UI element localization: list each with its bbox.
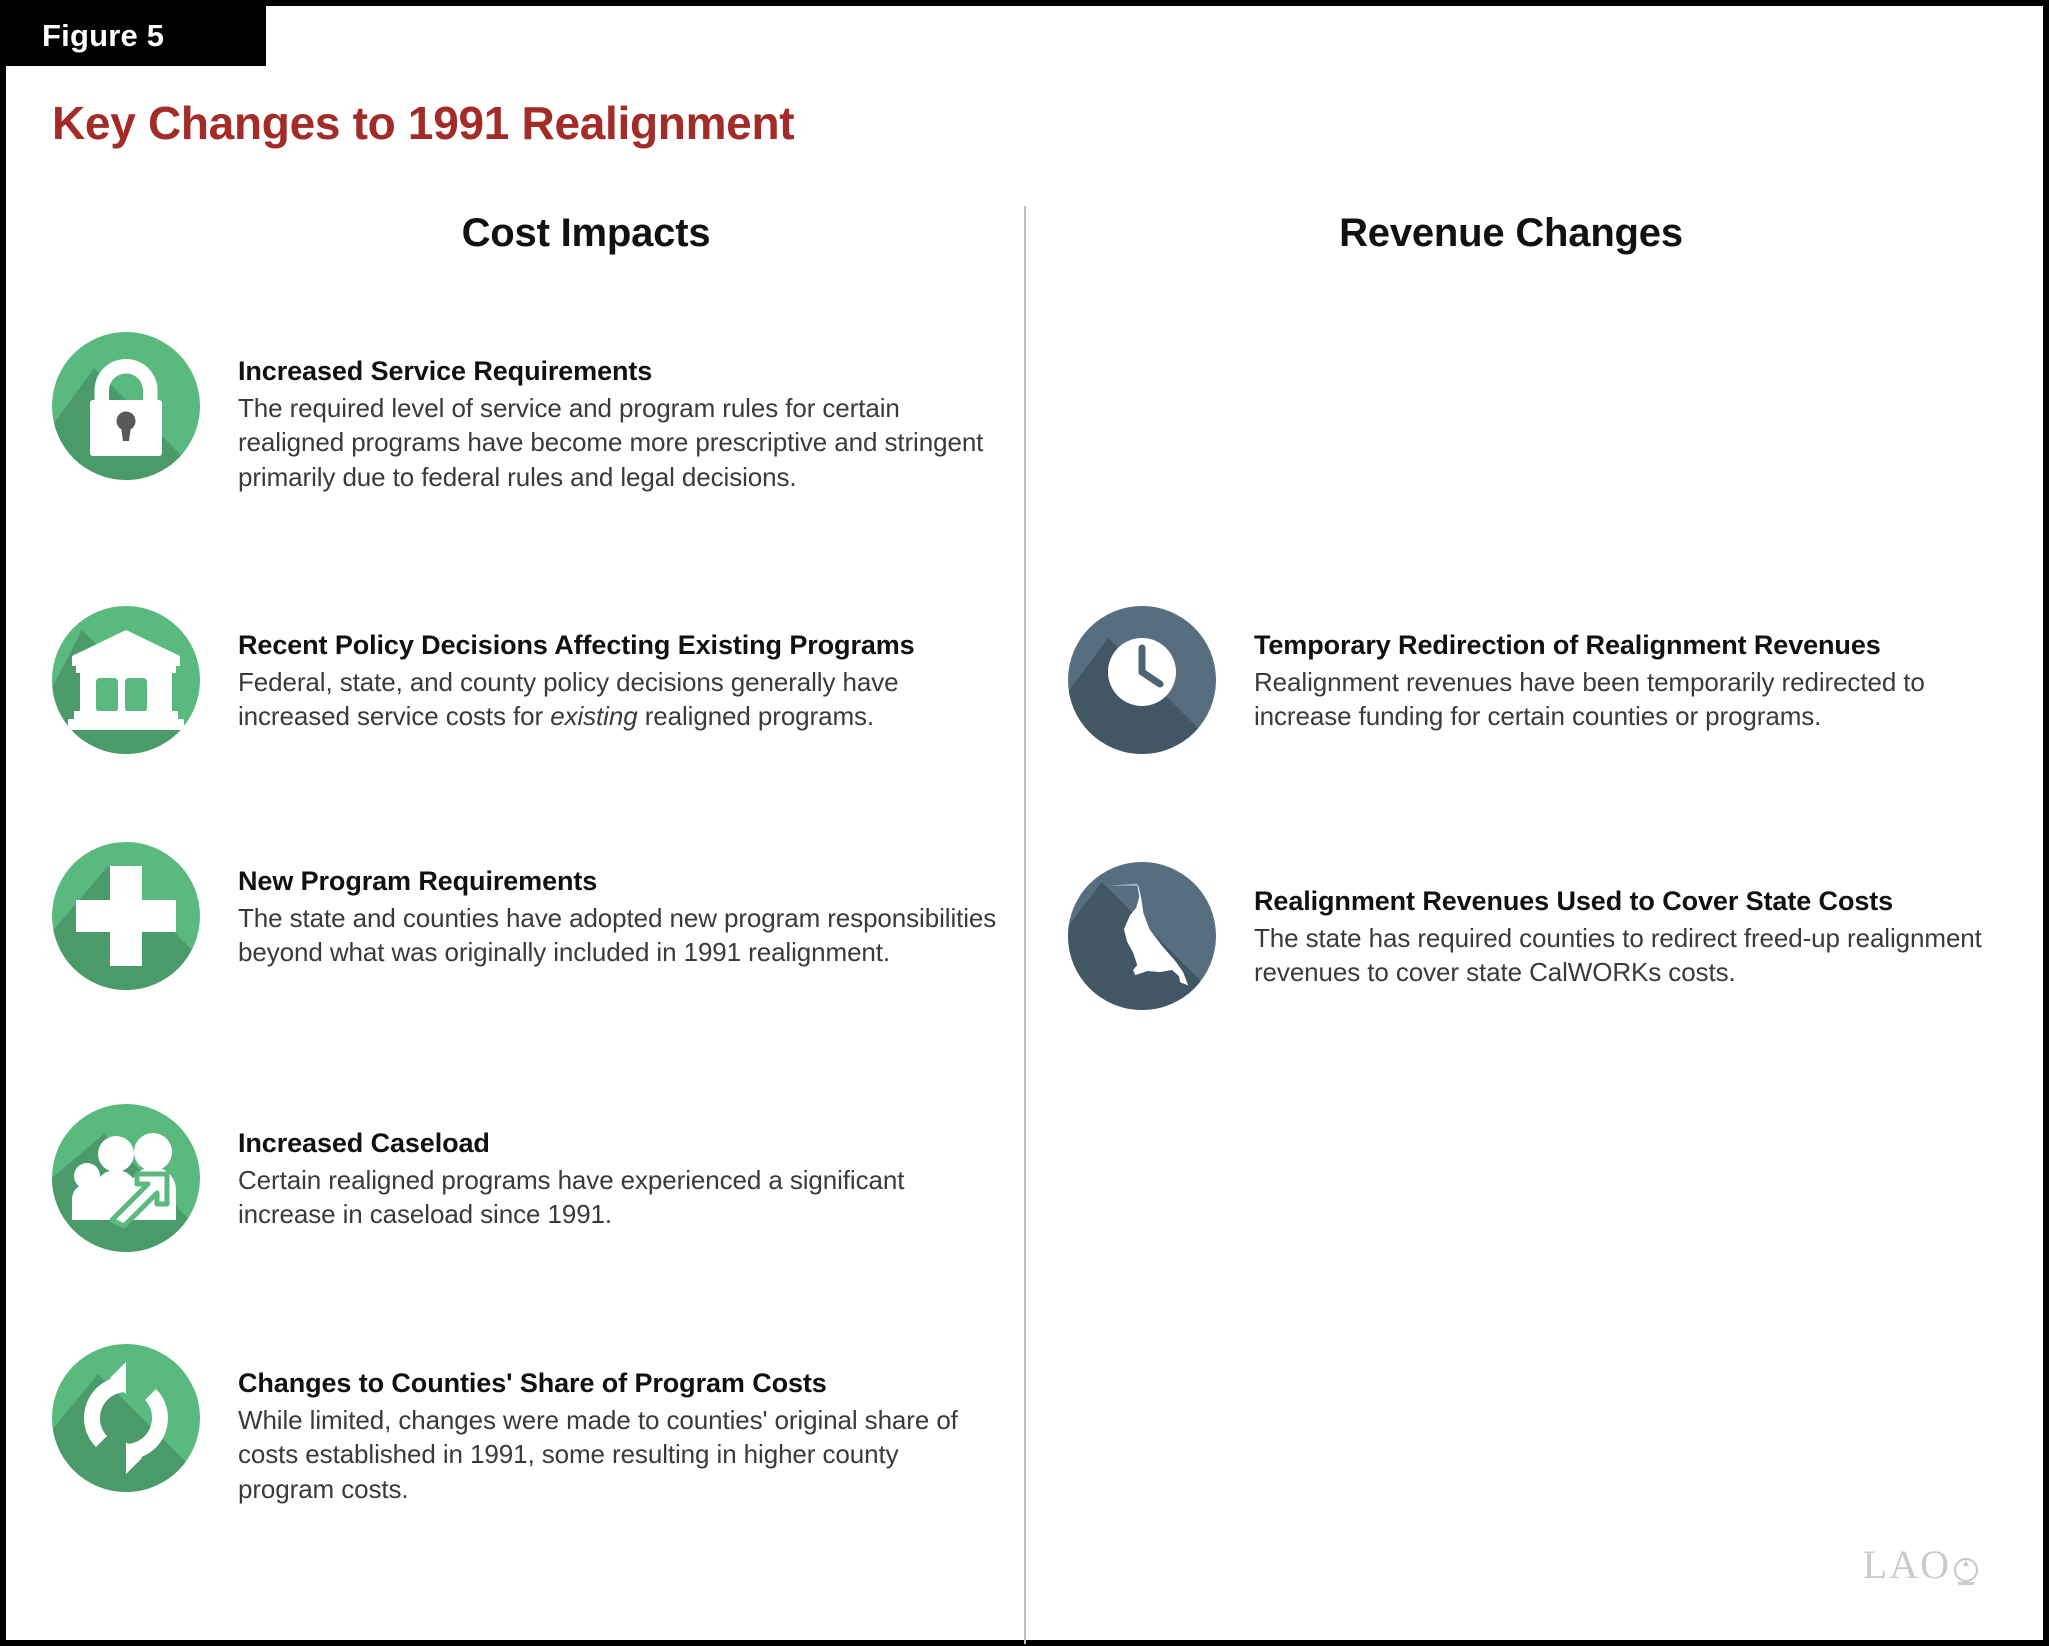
list-item-text: Recent Policy Decisions Affecting Existi…	[238, 606, 998, 734]
recycle-arrows-icon-glyph	[52, 1344, 200, 1492]
plus-cross-icon	[52, 842, 200, 990]
column-divider	[1024, 206, 1026, 1644]
bank-columns-icon-glyph	[52, 606, 200, 754]
people-growth-icon-circle	[52, 1104, 200, 1252]
bank-columns-icon	[52, 606, 200, 754]
list-item: Recent Policy Decisions Affecting Existi…	[52, 606, 998, 754]
recycle-arrows-icon	[52, 1344, 200, 1492]
figure-number-tab: Figure 5	[6, 6, 266, 66]
lao-logo-mark	[1953, 1556, 1979, 1586]
list-item: Changes to Counties' Share of Program Co…	[52, 1344, 998, 1507]
clock-icon	[1068, 606, 1216, 754]
list-item: Realignment Revenues Used to Cover State…	[1068, 862, 2024, 1010]
list-item-text: Increased Service Requirements The requi…	[238, 332, 998, 495]
figure-root: Figure 5 Key Changes to 1991 Realignment…	[0, 0, 2049, 1646]
plus-cross-icon-glyph	[52, 842, 200, 990]
list-item: Temporary Redirection of Realignment Rev…	[1068, 606, 2024, 754]
lao-logo-text: LAO	[1863, 1541, 1951, 1588]
list-item-text: Temporary Redirection of Realignment Rev…	[1254, 606, 2024, 734]
people-growth-icon	[52, 1104, 200, 1252]
clock-icon-glyph	[1068, 606, 1216, 754]
lock-icon	[52, 332, 200, 480]
list-item-title: Recent Policy Decisions Affecting Existi…	[238, 628, 998, 663]
lock-icon-circle	[52, 332, 200, 480]
list-item-text: Realignment Revenues Used to Cover State…	[1254, 862, 2024, 990]
list-item-title: Realignment Revenues Used to Cover State…	[1254, 884, 2024, 919]
bank-columns-icon-circle	[52, 606, 200, 754]
lock-icon-glyph	[52, 332, 200, 480]
list-item-title: Increased Caseload	[238, 1126, 998, 1161]
list-item-description: Certain realigned programs have experien…	[238, 1163, 998, 1233]
list-item-description: The required level of service and progra…	[238, 391, 998, 495]
california-map-icon-circle	[1068, 862, 1216, 1010]
list-item-title: Changes to Counties' Share of Program Co…	[238, 1366, 998, 1401]
list-item-description: The state and counties have adopted new …	[238, 901, 998, 971]
clock-icon-circle	[1068, 606, 1216, 754]
plus-cross-icon-circle	[52, 842, 200, 990]
california-map-icon-glyph	[1068, 862, 1216, 1010]
list-item-text: New Program Requirements The state and c…	[238, 842, 998, 970]
list-item-title: New Program Requirements	[238, 864, 998, 899]
california-map-icon	[1068, 862, 1216, 1010]
list-item-description: While limited, changes were made to coun…	[238, 1403, 998, 1507]
list-item-description: Realignment revenues have been temporari…	[1254, 665, 2024, 735]
list-item-text: Increased Caseload Certain realigned pro…	[238, 1104, 998, 1232]
list-item-description: Federal, state, and county policy decisi…	[238, 665, 998, 735]
list-item-title: Temporary Redirection of Realignment Rev…	[1254, 628, 2024, 663]
people-growth-icon-glyph	[52, 1104, 200, 1252]
recycle-arrows-icon-circle	[52, 1344, 200, 1492]
list-item: Increased Service Requirements The requi…	[52, 332, 998, 495]
list-item-title: Increased Service Requirements	[238, 354, 998, 389]
list-item-text: Changes to Counties' Share of Program Co…	[238, 1344, 998, 1507]
lao-logo: LAO	[1863, 1541, 1979, 1588]
page-title: Key Changes to 1991 Realignment	[52, 96, 794, 150]
column-header-cost-impacts: Cost Impacts	[156, 211, 1016, 256]
figure-number-label: Figure 5	[42, 18, 164, 54]
list-item: New Program Requirements The state and c…	[52, 842, 998, 990]
list-item: Increased Caseload Certain realigned pro…	[52, 1104, 998, 1252]
list-item-description: The state has required counties to redir…	[1254, 921, 2024, 991]
column-header-revenue-changes: Revenue Changes	[1036, 211, 1986, 256]
